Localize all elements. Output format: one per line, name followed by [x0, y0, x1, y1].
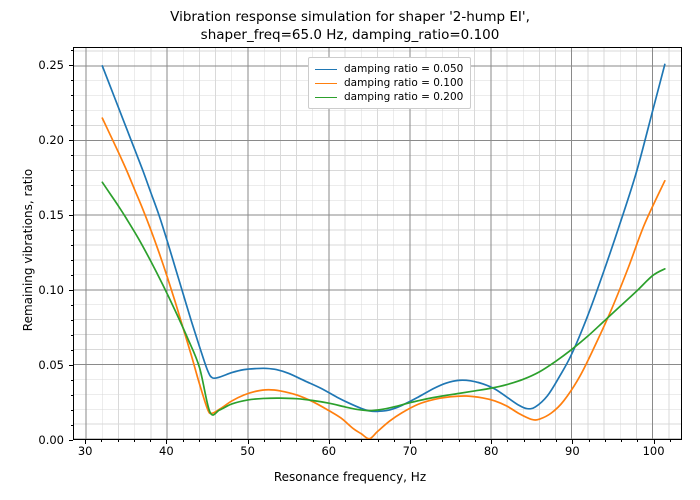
x-tick-mark [248, 440, 249, 444]
y-tick-mark-minor [71, 425, 73, 426]
x-tick-mark [491, 440, 492, 444]
y-tick-mark-minor [71, 245, 73, 246]
x-tick-mark-minor [459, 440, 460, 442]
y-tick-mark-minor [71, 335, 73, 336]
y-tick-0.25: 0.25 [6, 58, 64, 72]
y-tick-mark-minor [71, 395, 73, 396]
legend-swatch-icon [315, 97, 337, 98]
x-tick-80: 80 [484, 444, 499, 458]
y-tick-mark-minor [71, 260, 73, 261]
x-tick-mark-minor [231, 440, 232, 442]
y-tick-mark [69, 365, 73, 366]
x-tick-90: 90 [565, 444, 580, 458]
y-tick-mark-minor [71, 230, 73, 231]
legend-item-0[interactable]: damping ratio = 0.050 [315, 62, 463, 76]
y-tick-mark-minor [71, 110, 73, 111]
y-tick-mark-minor [71, 95, 73, 96]
x-tick-mark-minor [394, 440, 395, 442]
x-tick-mark-minor [605, 440, 606, 442]
legend-item-2[interactable]: damping ratio = 0.200 [315, 90, 463, 104]
x-tick-mark [329, 440, 330, 444]
y-tick-mark [69, 215, 73, 216]
legend-label: damping ratio = 0.050 [344, 63, 463, 75]
legend[interactable]: damping ratio = 0.050damping ratio = 0.1… [308, 57, 471, 109]
y-tick-mark-minor [71, 275, 73, 276]
x-tick-100: 100 [643, 444, 665, 458]
y-tick-mark-minor [71, 50, 73, 51]
y-tick-mark-minor [71, 170, 73, 171]
y-tick-mark-minor [71, 320, 73, 321]
y-tick-0.15: 0.15 [6, 208, 64, 222]
x-tick-mark [85, 440, 86, 444]
series-line-2 [102, 182, 664, 415]
y-tick-0.00: 0.00 [6, 433, 64, 447]
x-tick-mark-minor [183, 440, 184, 442]
y-tick-mark-minor [71, 125, 73, 126]
x-tick-50: 50 [240, 444, 255, 458]
x-tick-mark [654, 440, 655, 444]
x-tick-mark-minor [589, 440, 590, 442]
legend-swatch-icon [315, 69, 337, 70]
x-tick-mark-minor [296, 440, 297, 442]
y-tick-mark-minor [71, 155, 73, 156]
x-tick-mark [410, 440, 411, 444]
x-tick-mark-minor [101, 440, 102, 442]
x-tick-mark-minor [199, 440, 200, 442]
y-tick-mark [69, 65, 73, 66]
legend-label: damping ratio = 0.200 [344, 91, 463, 103]
legend-swatch-icon [315, 83, 337, 84]
y-tick-mark-minor [71, 200, 73, 201]
x-tick-mark-minor [361, 440, 362, 442]
y-tick-mark-minor [71, 80, 73, 81]
x-tick-70: 70 [403, 444, 418, 458]
x-tick-30: 30 [78, 444, 93, 458]
y-tick-mark-minor [71, 350, 73, 351]
x-tick-mark-minor [556, 440, 557, 442]
x-tick-mark-minor [540, 440, 541, 442]
x-tick-mark-minor [118, 440, 119, 442]
series-line-1 [102, 118, 664, 439]
x-tick-mark-minor [524, 440, 525, 442]
x-tick-mark [572, 440, 573, 444]
legend-label: damping ratio = 0.100 [344, 77, 463, 89]
y-tick-mark-minor [71, 380, 73, 381]
x-tick-mark-minor [215, 440, 216, 442]
x-tick-mark-minor [345, 440, 346, 442]
y-tick-0.20: 0.20 [6, 133, 64, 147]
x-tick-mark-minor [621, 440, 622, 442]
x-tick-mark [166, 440, 167, 444]
x-tick-40: 40 [159, 444, 174, 458]
x-tick-mark-minor [442, 440, 443, 442]
x-tick-mark-minor [134, 440, 135, 442]
y-tick-mark [69, 290, 73, 291]
chart-title: Vibration response simulation for shaper… [0, 8, 700, 44]
figure: Vibration response simulation for shaper… [0, 0, 700, 500]
y-tick-0.10: 0.10 [6, 283, 64, 297]
x-tick-mark-minor [637, 440, 638, 442]
x-tick-mark-minor [264, 440, 265, 442]
legend-item-1[interactable]: damping ratio = 0.100 [315, 76, 463, 90]
x-axis-label: Resonance frequency, Hz [0, 470, 700, 484]
x-tick-mark-minor [670, 440, 671, 442]
series-line-0 [102, 64, 664, 411]
y-axis-label: Remaining vibrations, ratio [21, 60, 35, 440]
x-tick-mark-minor [150, 440, 151, 442]
y-tick-mark [69, 440, 73, 441]
x-tick-mark-minor [280, 440, 281, 442]
x-tick-mark-minor [378, 440, 379, 442]
y-tick-0.05: 0.05 [6, 358, 64, 372]
x-tick-mark-minor [313, 440, 314, 442]
x-tick-mark-minor [426, 440, 427, 442]
x-tick-60: 60 [321, 444, 336, 458]
y-tick-mark [69, 140, 73, 141]
y-tick-mark-minor [71, 410, 73, 411]
y-tick-mark-minor [71, 305, 73, 306]
x-tick-mark-minor [475, 440, 476, 442]
y-tick-mark-minor [71, 185, 73, 186]
x-tick-mark-minor [507, 440, 508, 442]
